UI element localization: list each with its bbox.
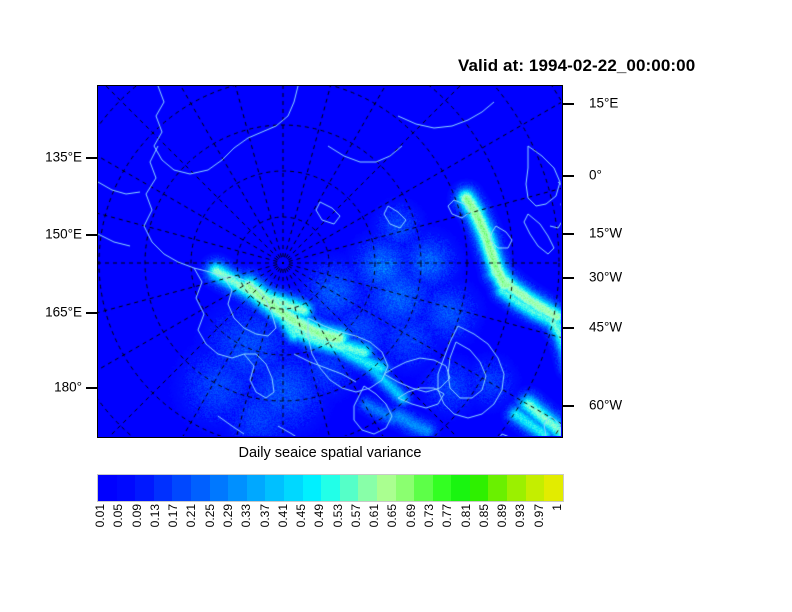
- colorbar-tick-12: 0.49: [312, 504, 326, 527]
- colorbar-segment-0: [98, 475, 117, 501]
- colorbar-segment-14: [358, 475, 377, 501]
- colorbar-segment-24: [544, 475, 563, 501]
- axis-label-left-1: 150°E: [45, 227, 82, 242]
- colorbar-tick-14: 0.57: [349, 504, 363, 527]
- axis-tick-left: [86, 312, 97, 314]
- colorbar-segment-10: [284, 475, 303, 501]
- colorbar-tick-20: 0.81: [459, 504, 473, 527]
- colorbar-tick-7: 0.29: [221, 504, 235, 527]
- colorbar-segment-18: [433, 475, 452, 501]
- colorbar-tick-2: 0.09: [130, 504, 144, 527]
- colorbar-segment-7: [228, 475, 247, 501]
- axis-tick-left: [86, 234, 97, 236]
- colorbar-segment-4: [172, 475, 191, 501]
- colorbar-segment-1: [117, 475, 136, 501]
- axis-tick-right: [563, 277, 574, 279]
- colorbar-tick-13: 0.53: [331, 504, 345, 527]
- colorbar-tick-1: 0.05: [111, 504, 125, 527]
- colorbar-segment-23: [526, 475, 545, 501]
- colorbar-tick-8: 0.33: [239, 504, 253, 527]
- colorbar-segment-15: [377, 475, 396, 501]
- axis-label-left-2: 165°E: [45, 305, 82, 320]
- plot-caption: Daily seaice spatial variance: [97, 445, 563, 461]
- colorbar-tick-15: 0.61: [367, 504, 381, 527]
- colorbar-segment-22: [507, 475, 526, 501]
- axis-tick-right: [563, 175, 574, 177]
- colorbar-segment-19: [451, 475, 470, 501]
- colorbar-tick-21: 0.85: [477, 504, 491, 527]
- colorbar-tick-0: 0.01: [93, 504, 107, 527]
- axis-label-right-5: 60°W: [589, 398, 622, 413]
- colorbar-tick-4: 0.17: [166, 504, 180, 527]
- colorbar-tick-5: 0.21: [184, 504, 198, 527]
- colorbar-tick-labels: 0.010.050.090.130.170.210.250.290.330.37…: [97, 504, 564, 564]
- colorbar-tick-23: 0.93: [513, 504, 527, 527]
- colorbar-tick-3: 0.13: [148, 504, 162, 527]
- axis-tick-right: [563, 233, 574, 235]
- colorbar-tick-22: 0.89: [495, 504, 509, 527]
- colorbar-tick-6: 0.25: [203, 504, 217, 527]
- colorbar-tick-19: 0.77: [440, 504, 454, 527]
- colorbar-tick-10: 0.41: [276, 504, 290, 527]
- axis-tick-left: [86, 387, 97, 389]
- colorbar-segment-16: [396, 475, 415, 501]
- colorbar-segment-17: [414, 475, 433, 501]
- colorbar-tick-11: 0.45: [294, 504, 308, 527]
- axis-tick-right: [563, 327, 574, 329]
- colorbar-tick-9: 0.37: [258, 504, 272, 527]
- colorbar-tick-17: 0.69: [404, 504, 418, 527]
- axis-tick-right: [563, 405, 574, 407]
- colorbar-segment-13: [340, 475, 359, 501]
- axis-label-left-3: 180°: [54, 380, 82, 395]
- colorbar-gradient: [97, 474, 564, 502]
- colorbar-tick-16: 0.65: [385, 504, 399, 527]
- colorbar-segment-3: [154, 475, 173, 501]
- colorbar-segment-11: [303, 475, 322, 501]
- colorbar-segment-20: [470, 475, 489, 501]
- map-field-canvas: [98, 86, 561, 436]
- axis-label-right-3: 30°W: [589, 270, 622, 285]
- axis-label-right-1: 0°: [589, 168, 602, 183]
- colorbar-segment-5: [191, 475, 210, 501]
- axis-label-right-0: 15°E: [589, 96, 618, 111]
- axis-tick-left: [86, 157, 97, 159]
- colorbar-segment-2: [135, 475, 154, 501]
- colorbar-segment-6: [210, 475, 229, 501]
- colorbar-tick-25: 1: [550, 504, 564, 511]
- axis-label-right-4: 45°W: [589, 320, 622, 335]
- axis-tick-right: [563, 103, 574, 105]
- colorbar-segment-9: [265, 475, 284, 501]
- colorbar-tick-24: 0.97: [532, 504, 546, 527]
- map-plot-area[interactable]: [97, 85, 563, 438]
- axis-label-right-2: 15°W: [589, 226, 622, 241]
- colorbar-segment-8: [247, 475, 266, 501]
- colorbar-tick-18: 0.73: [422, 504, 436, 527]
- axis-label-left-0: 135°E: [45, 150, 82, 165]
- colorbar-segment-12: [321, 475, 340, 501]
- figure-title: Valid at: 1994-02-22_00:00:00: [458, 56, 695, 76]
- colorbar[interactable]: [97, 474, 564, 502]
- colorbar-segment-21: [488, 475, 507, 501]
- figure-root: Valid at: 1994-02-22_00:00:00 135°E150°E…: [0, 0, 792, 612]
